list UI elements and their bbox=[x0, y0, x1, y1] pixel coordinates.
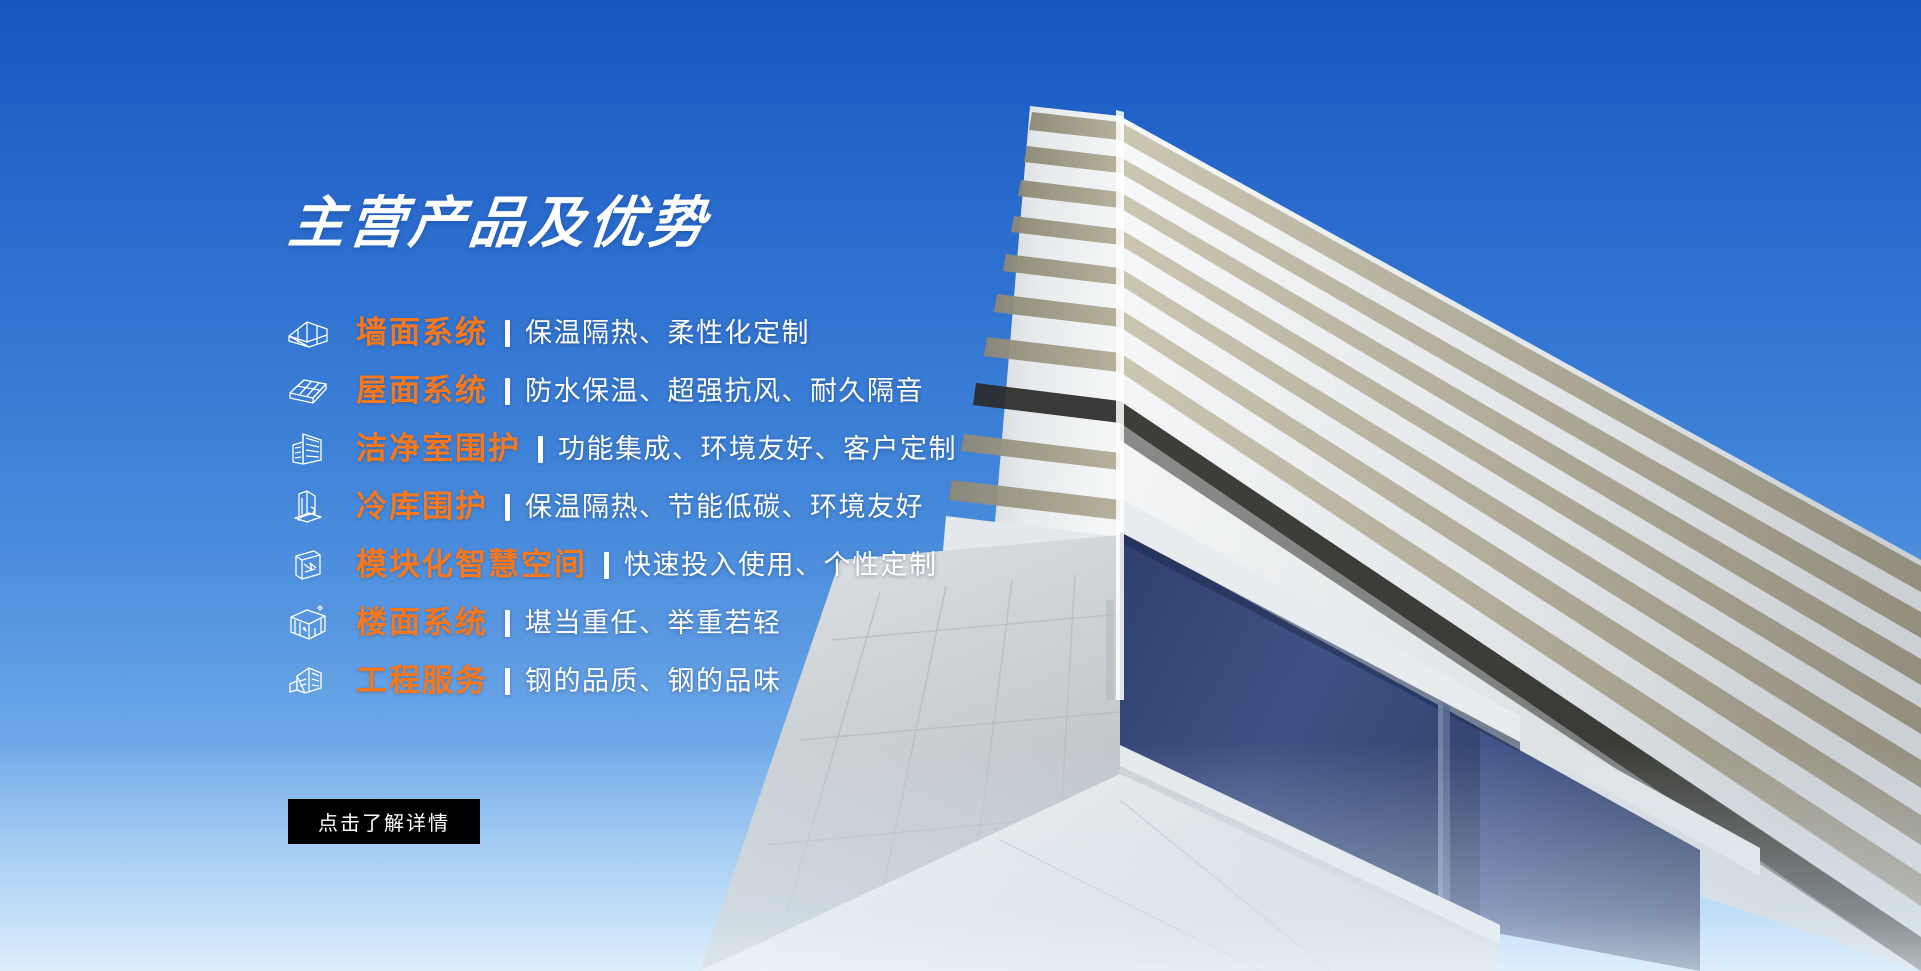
learn-more-button[interactable]: 点击了解详情 bbox=[288, 799, 480, 844]
list-item[interactable]: 楼面系统 堪当重任、举重若轻 bbox=[286, 594, 1466, 652]
engineering-service-icon bbox=[286, 661, 330, 701]
hero-content: 主营产品及优势 墙面系统 保温隔热、柔性化定制 bbox=[286, 196, 1466, 710]
product-desc: 堪当重任、举重若轻 bbox=[525, 610, 782, 637]
list-item[interactable]: 洁净室围护 功能集成、环境友好、客户定制 bbox=[286, 420, 1466, 478]
wall-system-icon bbox=[286, 313, 330, 353]
list-item[interactable]: 冷库围护 保温隔热、节能低碳、环境友好 bbox=[286, 478, 1466, 536]
product-title: 洁净室围护 bbox=[356, 434, 521, 465]
separator-bar bbox=[505, 320, 510, 347]
product-desc: 防水保温、超强抗风、耐久隔音 bbox=[525, 378, 924, 405]
product-list: 墙面系统 保温隔热、柔性化定制 屋面系统 bbox=[286, 304, 1466, 710]
separator-bar bbox=[604, 552, 609, 579]
cleanroom-icon bbox=[286, 429, 330, 469]
product-title: 屋面系统 bbox=[356, 376, 488, 407]
product-title: 模块化智慧空间 bbox=[356, 550, 587, 581]
product-desc: 快速投入使用、个性定制 bbox=[624, 552, 938, 579]
list-item[interactable]: 墙面系统 保温隔热、柔性化定制 bbox=[286, 304, 1466, 362]
product-title: 墙面系统 bbox=[356, 318, 488, 349]
product-desc: 功能集成、环境友好、客户定制 bbox=[558, 436, 957, 463]
separator-bar bbox=[505, 668, 510, 695]
product-desc: 保温隔热、节能低碳、环境友好 bbox=[525, 494, 924, 521]
floor-system-icon bbox=[286, 603, 330, 643]
page-title: 主营产品及优势 bbox=[286, 196, 1472, 252]
hero-banner: 主营产品及优势 墙面系统 保温隔热、柔性化定制 bbox=[0, 0, 1921, 971]
separator-bar bbox=[505, 378, 510, 405]
product-title: 楼面系统 bbox=[356, 608, 488, 639]
product-desc: 钢的品质、钢的品味 bbox=[525, 668, 782, 695]
list-item[interactable]: 模块化智慧空间 快速投入使用、个性定制 bbox=[286, 536, 1466, 594]
product-title: 冷库围护 bbox=[356, 492, 488, 523]
modular-space-icon bbox=[286, 545, 330, 585]
roof-system-icon bbox=[286, 371, 330, 411]
separator-bar bbox=[538, 436, 543, 463]
separator-bar bbox=[505, 494, 510, 521]
list-item[interactable]: 屋面系统 防水保温、超强抗风、耐久隔音 bbox=[286, 362, 1466, 420]
cold-storage-icon bbox=[286, 487, 330, 527]
list-item[interactable]: 工程服务 钢的品质、钢的品味 bbox=[286, 652, 1466, 710]
separator-bar bbox=[505, 610, 510, 637]
product-title: 工程服务 bbox=[356, 666, 488, 697]
product-desc: 保温隔热、柔性化定制 bbox=[525, 320, 810, 347]
horizon-haze bbox=[0, 741, 1921, 971]
